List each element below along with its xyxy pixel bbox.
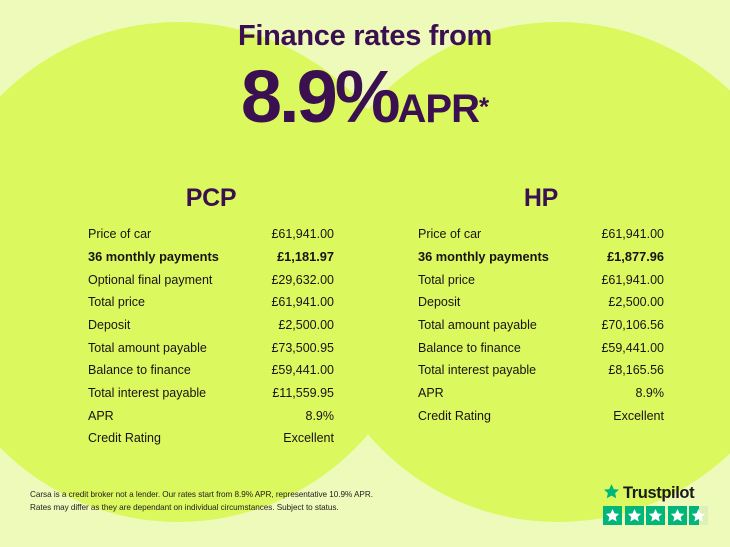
star-half-icon bbox=[689, 506, 708, 525]
row-label: Total price bbox=[88, 296, 254, 319]
row-value: £61,941.00 bbox=[584, 228, 664, 251]
table-row: 36 monthly payments£1,877.96 bbox=[418, 251, 664, 274]
row-label: Total amount payable bbox=[88, 342, 254, 365]
star-filled-icon bbox=[625, 506, 644, 525]
table-row: APR8.9% bbox=[418, 387, 664, 410]
trustpilot-logo[interactable]: Trustpilot bbox=[603, 484, 711, 525]
table-row: Balance to finance£59,441.00 bbox=[88, 364, 334, 387]
finance-panel-hp: HP Price of car£61,941.0036 monthly paym… bbox=[418, 186, 664, 432]
row-value: £61,941.00 bbox=[254, 296, 334, 319]
disclaimer-line-1: Carsa is a credit broker not a lender. O… bbox=[30, 488, 490, 501]
row-value: £61,941.00 bbox=[584, 274, 664, 297]
row-label: Total amount payable bbox=[418, 319, 584, 342]
table-row: Credit RatingExcellent bbox=[418, 410, 664, 433]
table-row: Total amount payable£70,106.56 bbox=[418, 319, 664, 342]
row-label: APR bbox=[88, 410, 254, 433]
row-label: Price of car bbox=[88, 228, 254, 251]
row-label: Total interest payable bbox=[88, 387, 254, 410]
row-label: Total interest payable bbox=[418, 364, 584, 387]
headline-rate: 8.9%APR* bbox=[0, 60, 730, 134]
row-label: 36 monthly payments bbox=[88, 251, 254, 274]
row-value: £59,441.00 bbox=[584, 342, 664, 365]
row-label: 36 monthly payments bbox=[418, 251, 584, 274]
trustpilot-name: Trustpilot bbox=[623, 485, 694, 502]
table-row: Total interest payable£8,165.56 bbox=[418, 364, 664, 387]
page-title: Finance rates from bbox=[0, 22, 730, 51]
promo-poster: Finance rates from 8.9%APR* PCP Price of… bbox=[0, 0, 730, 547]
table-row: Credit RatingExcellent bbox=[88, 432, 334, 455]
panel-title-hp: HP bbox=[418, 186, 664, 211]
table-row: Optional final payment£29,632.00 bbox=[88, 274, 334, 297]
rate-table-hp: Price of car£61,941.0036 monthly payment… bbox=[418, 228, 664, 432]
row-label: Credit Rating bbox=[88, 432, 254, 455]
trustpilot-star-icon bbox=[603, 483, 620, 505]
disclaimer-line-2: Rates may differ as they are dependant o… bbox=[30, 501, 490, 514]
row-value: £1,181.97 bbox=[254, 251, 334, 274]
rate-unit: APR bbox=[398, 87, 479, 131]
table-row: Deposit£2,500.00 bbox=[418, 296, 664, 319]
row-value: £2,500.00 bbox=[254, 319, 334, 342]
trustpilot-wordmark: Trustpilot bbox=[603, 484, 711, 503]
disclaimer-text: Carsa is a credit broker not a lender. O… bbox=[30, 488, 490, 515]
table-row: Total interest payable£11,559.95 bbox=[88, 387, 334, 410]
table-row: Price of car£61,941.00 bbox=[88, 228, 334, 251]
trustpilot-star-rating bbox=[603, 506, 711, 525]
row-value: £61,941.00 bbox=[254, 228, 334, 251]
rate-number: 8.9% bbox=[241, 55, 398, 138]
star-filled-icon bbox=[668, 506, 687, 525]
row-value: 8.9% bbox=[584, 387, 664, 410]
table-row: Deposit£2,500.00 bbox=[88, 319, 334, 342]
table-row: 36 monthly payments£1,181.97 bbox=[88, 251, 334, 274]
row-label: Total price bbox=[418, 274, 584, 297]
row-label: Credit Rating bbox=[418, 410, 584, 433]
panel-title-pcp: PCP bbox=[88, 186, 334, 211]
table-row: Price of car£61,941.00 bbox=[418, 228, 664, 251]
row-value: £73,500.95 bbox=[254, 342, 334, 365]
row-label: Balance to finance bbox=[418, 342, 584, 365]
row-value: £2,500.00 bbox=[584, 296, 664, 319]
row-value: £59,441.00 bbox=[254, 364, 334, 387]
rate-asterisk: * bbox=[479, 92, 489, 122]
rate-table-pcp: Price of car£61,941.0036 monthly payment… bbox=[88, 228, 334, 455]
row-value: Excellent bbox=[254, 432, 334, 455]
row-label: APR bbox=[418, 387, 584, 410]
table-row: Balance to finance£59,441.00 bbox=[418, 342, 664, 365]
row-value: £11,559.95 bbox=[254, 387, 334, 410]
row-value: 8.9% bbox=[254, 410, 334, 433]
row-value: £29,632.00 bbox=[254, 274, 334, 297]
table-row: Total amount payable£73,500.95 bbox=[88, 342, 334, 365]
row-label: Price of car bbox=[418, 228, 584, 251]
row-label: Deposit bbox=[418, 296, 584, 319]
row-label: Optional final payment bbox=[88, 274, 254, 297]
row-value: Excellent bbox=[584, 410, 664, 433]
finance-panel-pcp: PCP Price of car£61,941.0036 monthly pay… bbox=[88, 186, 334, 455]
row-value: £70,106.56 bbox=[584, 319, 664, 342]
star-filled-icon bbox=[646, 506, 665, 525]
row-label: Balance to finance bbox=[88, 364, 254, 387]
table-row: APR8.9% bbox=[88, 410, 334, 433]
row-label: Deposit bbox=[88, 319, 254, 342]
row-value: £1,877.96 bbox=[584, 251, 664, 274]
row-value: £8,165.56 bbox=[584, 364, 664, 387]
table-row: Total price£61,941.00 bbox=[88, 296, 334, 319]
table-row: Total price£61,941.00 bbox=[418, 274, 664, 297]
star-filled-icon bbox=[603, 506, 622, 525]
